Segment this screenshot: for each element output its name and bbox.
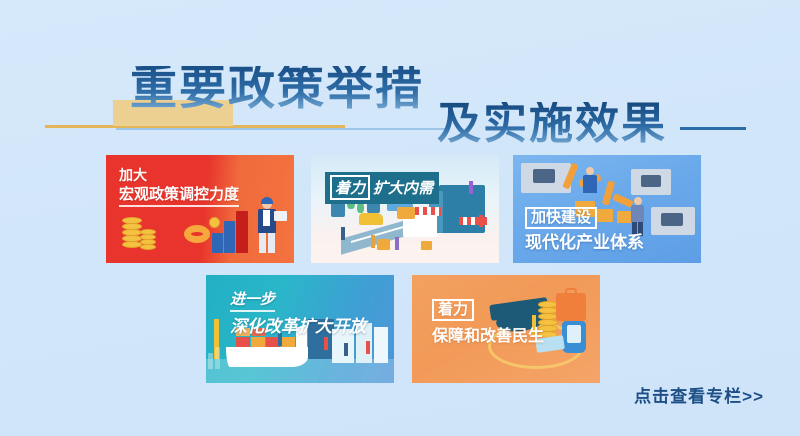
policy-card-livelihood[interactable]: 着力 保障和改善民生 — [412, 275, 600, 383]
machine-screen-left — [533, 169, 555, 183]
dock-worker-3 — [344, 343, 348, 356]
card-2-label: 着力 扩大内需 — [325, 172, 439, 204]
dock-worker-4 — [366, 341, 370, 354]
card-3-label: 加快建设 现代化产业体系 — [525, 207, 644, 254]
policy-banner: 重要政策举措 及实施效果 加大 宏观政策调控力度 — [0, 0, 800, 436]
card-4-label-line-1: 进一步 — [230, 291, 275, 312]
card-5-label-boxed: 着力 — [432, 299, 474, 321]
page-title-line-1: 重要政策举措 — [130, 66, 424, 113]
pedestrian-3 — [395, 237, 399, 250]
policy-card-modern-industry[interactable]: 加快建设 现代化产业体系 — [513, 155, 701, 263]
card-2-label-boxed: 着力 — [330, 175, 370, 200]
card-4-label: 进一步 深化改革扩大开放 — [230, 291, 366, 338]
port-building-4 — [374, 327, 388, 363]
package-2 — [421, 241, 432, 250]
pedestrian-1 — [341, 227, 345, 240]
package-1 — [377, 239, 390, 250]
card-5-label: 着力 保障和改善民生 — [432, 327, 544, 347]
card-3-label-line-2: 现代化产业体系 — [525, 233, 644, 254]
card-1-label-line-1: 加大 — [119, 167, 239, 184]
bar-red-3 — [236, 211, 248, 253]
blue-rule-left-decoration — [116, 128, 446, 130]
briefcase-icon — [556, 293, 586, 321]
dock-worker-2 — [324, 337, 328, 350]
policy-card-macro-control[interactable]: 加大 宏观政策调控力度 — [106, 155, 294, 263]
page-title-line-2: 及实施效果 — [437, 102, 667, 146]
donut-chart-icon — [184, 225, 210, 243]
view-column-link[interactable]: 点击查看专栏>> — [634, 382, 764, 407]
policy-card-expand-demand[interactable]: 着力 扩大内需 — [311, 155, 499, 263]
bar-blue-1 — [212, 233, 223, 253]
bar-blue-2 — [224, 221, 235, 253]
robot-arm-3 — [602, 181, 615, 206]
pedestrian-4 — [469, 181, 473, 194]
cargo-ship-hull — [226, 347, 308, 367]
medicine-label — [567, 325, 581, 343]
card-2-label-rest: 扩大内需 — [373, 177, 433, 198]
floating-coin — [209, 217, 220, 228]
card-4-label-line-2: 深化改革扩大开放 — [230, 317, 366, 338]
taxi-vehicle — [359, 213, 383, 225]
blue-rule-right-decoration — [680, 127, 746, 130]
card-3-label-line-1: 加快建设 — [525, 207, 597, 229]
machine-screen-bottom — [661, 213, 683, 226]
card-1-label-line-2: 宏观政策调控力度 — [119, 186, 239, 207]
pedestrian-5 — [479, 215, 483, 227]
delivery-truck — [397, 207, 415, 219]
card-1-label: 加大 宏观政策调控力度 — [119, 167, 239, 207]
chart-bar-bg-1 — [208, 353, 213, 369]
card-5-label-line-2: 保障和改善民生 — [432, 327, 544, 347]
chart-bar-bg-2 — [215, 347, 220, 369]
machine-screen-right — [641, 175, 661, 187]
banner-title-block: 重要政策举措 及实施效果 — [0, 28, 800, 140]
policy-card-reform-opening[interactable]: 进一步 深化改革扩大开放 — [206, 275, 394, 383]
briefcase-handle — [565, 288, 577, 295]
pedestrian-2 — [371, 235, 375, 248]
